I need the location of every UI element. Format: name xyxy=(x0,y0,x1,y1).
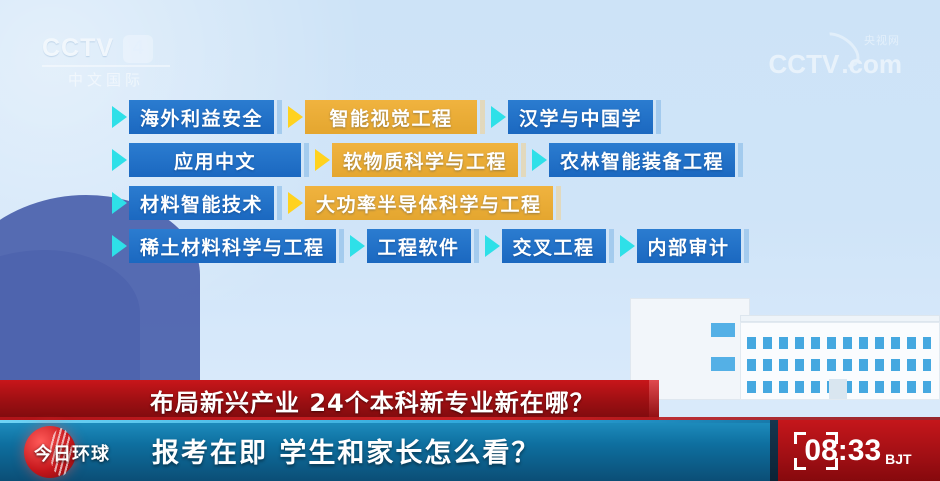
tag-tail-bar xyxy=(277,186,282,220)
major-tag-label: 材料智能技术 xyxy=(129,186,274,220)
clock-timezone: BJT xyxy=(885,451,911,467)
subheadline-text: 报考在即 学生和家长怎么看？ xyxy=(152,431,540,470)
arrow-icon xyxy=(350,235,365,257)
broadcast-screenshot: CCTV 4 中文国际 央视网 CCTV .com 海外利益安全智能视觉工程汉学… xyxy=(0,0,940,481)
arrow-icon xyxy=(288,192,303,214)
major-tag[interactable]: 汉学与中国学 xyxy=(491,100,661,134)
building-entrance xyxy=(829,379,847,399)
major-tag-label: 智能视觉工程 xyxy=(305,100,477,134)
major-tag-label: 软物质科学与工程 xyxy=(332,143,518,177)
arrow-icon xyxy=(315,149,330,171)
major-tag[interactable]: 稀土材料科学与工程 xyxy=(112,229,344,263)
tag-tail-bar xyxy=(556,186,561,220)
program-logo: 今日环球 xyxy=(18,426,126,478)
tag-tail-bar xyxy=(656,100,661,134)
major-tag-row: 材料智能技术大功率半导体科学与工程 xyxy=(112,186,832,220)
major-tag[interactable]: 材料智能技术 xyxy=(112,186,282,220)
new-majors-tag-list: 海外利益安全智能视觉工程汉学与中国学应用中文软物质科学与工程农林智能装备工程材料… xyxy=(112,100,832,272)
major-tag-label: 内部审计 xyxy=(637,229,741,263)
logo-top-row: CCTV 4 xyxy=(42,34,192,63)
major-tag[interactable]: 应用中文 xyxy=(112,143,309,177)
building-window xyxy=(711,323,735,337)
major-tag-label: 工程软件 xyxy=(367,229,471,263)
tag-tail-bar xyxy=(474,229,479,263)
cctv-com-watermark: 央视网 CCTV .com xyxy=(769,36,902,80)
bottom-ticker-bar: 今日环球 报考在即 学生和家长怎么看？ 08:33 BJT xyxy=(0,420,940,481)
headline-text: 布局新兴产业 24个本科新专业新在哪？ xyxy=(150,383,595,418)
major-tag[interactable]: 海外利益安全 xyxy=(112,100,282,134)
arrow-icon xyxy=(288,106,303,128)
channel-subtitle: 中文国际 xyxy=(42,69,170,90)
major-tag-label: 大功率半导体科学与工程 xyxy=(305,186,553,220)
clock-widget: 08:33 BJT xyxy=(770,420,940,481)
major-tag[interactable]: 工程软件 xyxy=(350,229,479,263)
channel-number-badge: 4 xyxy=(123,35,153,63)
tag-tail-bar xyxy=(521,143,526,177)
program-name-text: 今日环球 xyxy=(18,440,126,466)
major-tag-label: 应用中文 xyxy=(129,143,301,177)
major-tag-label: 农林智能装备工程 xyxy=(549,143,735,177)
tag-tail-bar xyxy=(480,100,485,134)
tag-tail-bar xyxy=(609,229,614,263)
arrow-icon xyxy=(491,106,506,128)
logo-divider xyxy=(42,65,170,67)
building-window xyxy=(711,357,735,371)
arrow-icon xyxy=(620,235,635,257)
building-roof xyxy=(740,315,940,322)
major-tag-row: 应用中文软物质科学与工程农林智能装备工程 xyxy=(112,143,832,177)
major-tag-label: 交叉工程 xyxy=(502,229,606,263)
major-tag-row: 稀土材料科学与工程工程软件交叉工程内部审计 xyxy=(112,229,832,263)
arrow-icon xyxy=(112,235,127,257)
building-right-wing xyxy=(740,322,940,400)
arrow-icon xyxy=(532,149,547,171)
major-tag-label: 海外利益安全 xyxy=(129,100,274,134)
major-tag[interactable]: 交叉工程 xyxy=(485,229,614,263)
tag-tail-bar xyxy=(277,100,282,134)
cctv-channel-logo: CCTV 4 中文国际 xyxy=(42,34,192,86)
major-tag[interactable]: 智能视觉工程 xyxy=(288,100,485,134)
tag-tail-bar xyxy=(304,143,309,177)
major-tag[interactable]: 大功率半导体科学与工程 xyxy=(288,186,561,220)
tag-tail-bar xyxy=(339,229,344,263)
major-tag[interactable]: 软物质科学与工程 xyxy=(315,143,526,177)
tag-tail-bar xyxy=(738,143,743,177)
cctv-wordmark: CCTV xyxy=(42,34,114,63)
clock-time: 08:33 xyxy=(804,434,881,468)
arrow-icon xyxy=(112,192,127,214)
major-tag-label: 稀土材料科学与工程 xyxy=(129,229,336,263)
yangshiwang-label: 央视网 xyxy=(864,32,900,48)
arrow-icon xyxy=(112,149,127,171)
major-tag-label: 汉学与中国学 xyxy=(508,100,653,134)
tag-tail-bar xyxy=(744,229,749,263)
major-tag[interactable]: 农林智能装备工程 xyxy=(532,143,743,177)
major-tag[interactable]: 内部审计 xyxy=(620,229,749,263)
arrow-icon xyxy=(112,106,127,128)
school-building-illustration xyxy=(620,290,940,400)
headline-banner: 布局新兴产业 24个本科新专业新在哪？ xyxy=(0,380,658,420)
major-tag-row: 海外利益安全智能视觉工程汉学与中国学 xyxy=(112,100,832,134)
arrow-icon xyxy=(485,235,500,257)
